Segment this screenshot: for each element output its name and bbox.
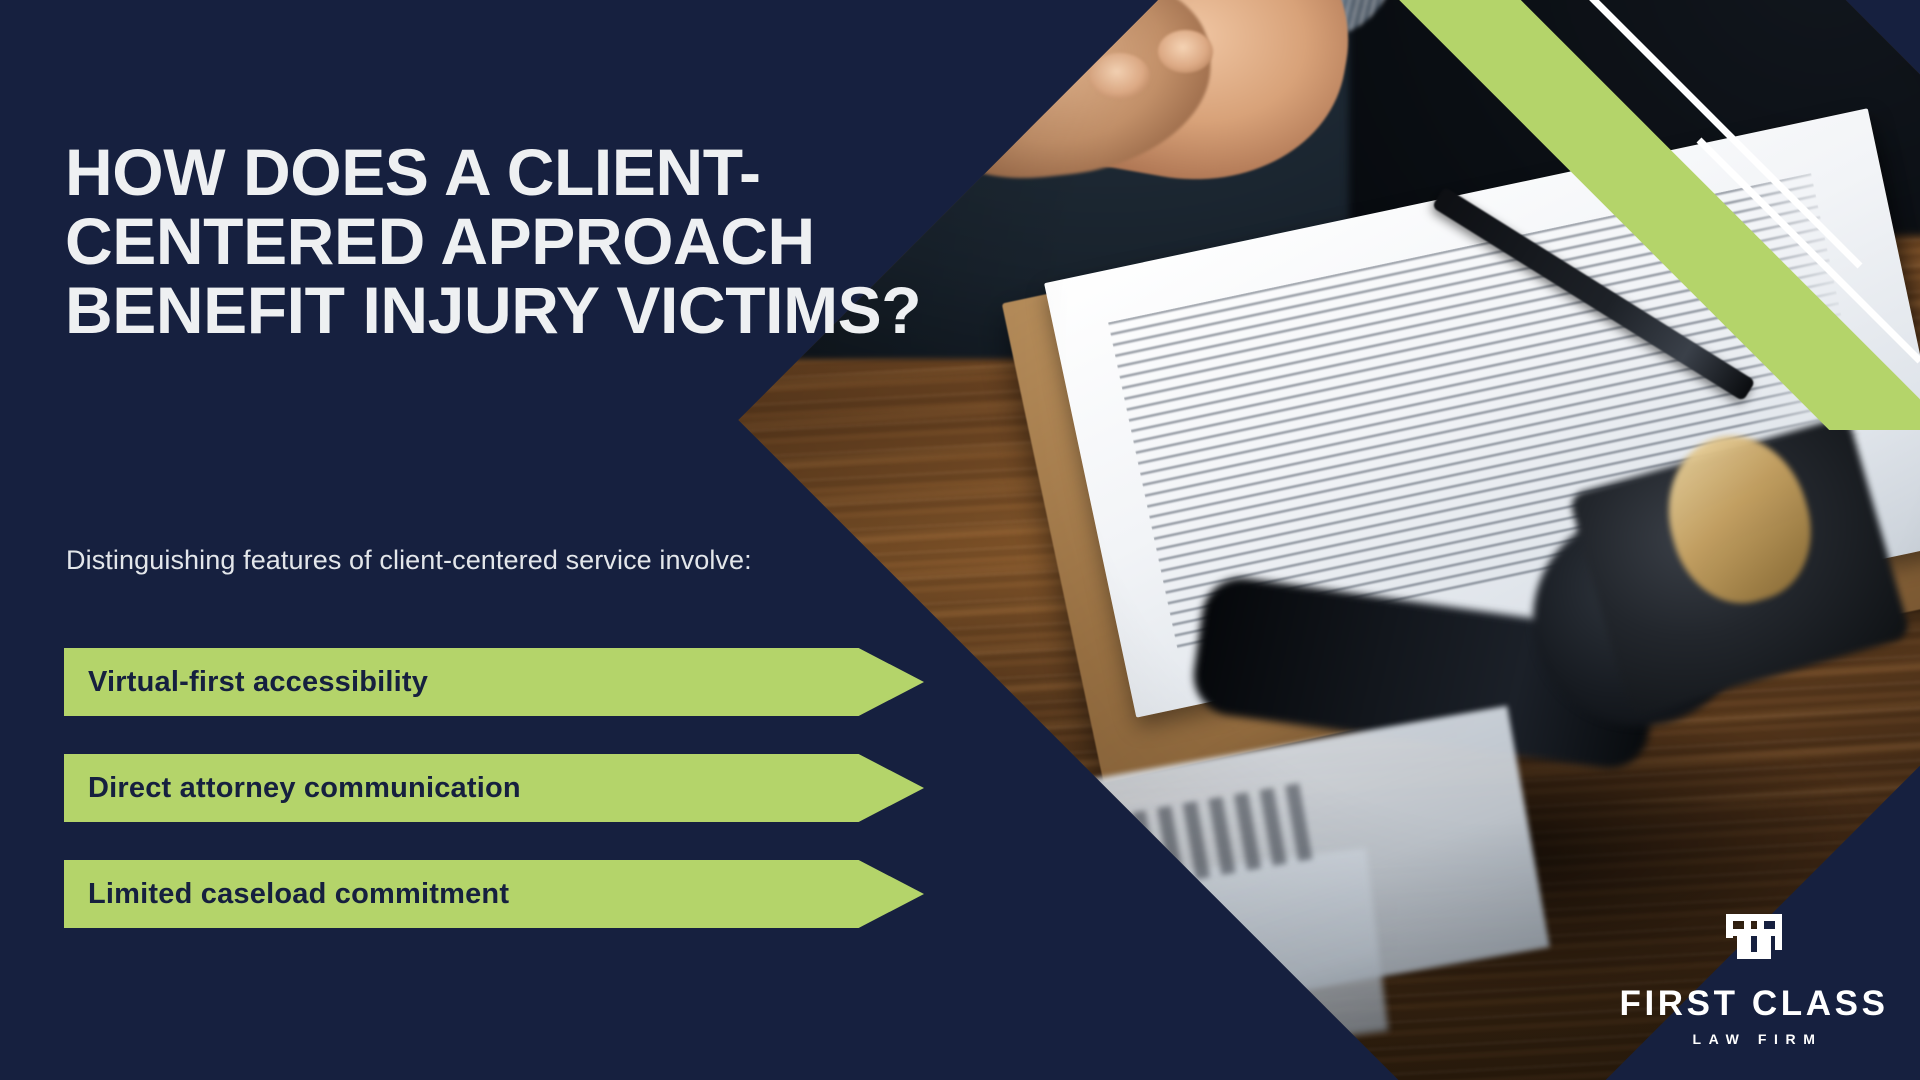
feature-bar: Limited caseload commitment xyxy=(64,860,924,928)
graphic-canvas: HOW DOES A CLIENT-CENTERED APPROACH BENE… xyxy=(0,0,1920,1080)
feature-bar: Virtual-first accessibility xyxy=(64,648,924,716)
brand-name: FIRST CLASS xyxy=(1609,986,1899,1021)
feature-bar-list: Virtual-first accessibility Direct attor… xyxy=(64,648,924,966)
subtitle-text: Distinguishing features of client-center… xyxy=(66,545,752,576)
decorative-stripes xyxy=(1160,0,1920,430)
page-title: HOW DOES A CLIENT-CENTERED APPROACH BENE… xyxy=(65,138,1025,345)
green-diagonal-band-icon xyxy=(1420,0,1920,430)
content-column: HOW DOES A CLIENT-CENTERED APPROACH BENE… xyxy=(0,0,1060,1080)
brand-logo: FIRST CLASS LAW FIRM xyxy=(1609,912,1899,1046)
brand-tagline: LAW FIRM xyxy=(1609,1032,1899,1046)
feature-bar-label: Limited caseload commitment xyxy=(64,878,509,911)
feature-bar: Direct attorney communication xyxy=(64,754,924,822)
feature-bar-label: Virtual-first accessibility xyxy=(64,666,428,699)
feature-bar-label: Direct attorney communication xyxy=(64,772,521,805)
fc-monogram-icon xyxy=(1720,912,1788,974)
